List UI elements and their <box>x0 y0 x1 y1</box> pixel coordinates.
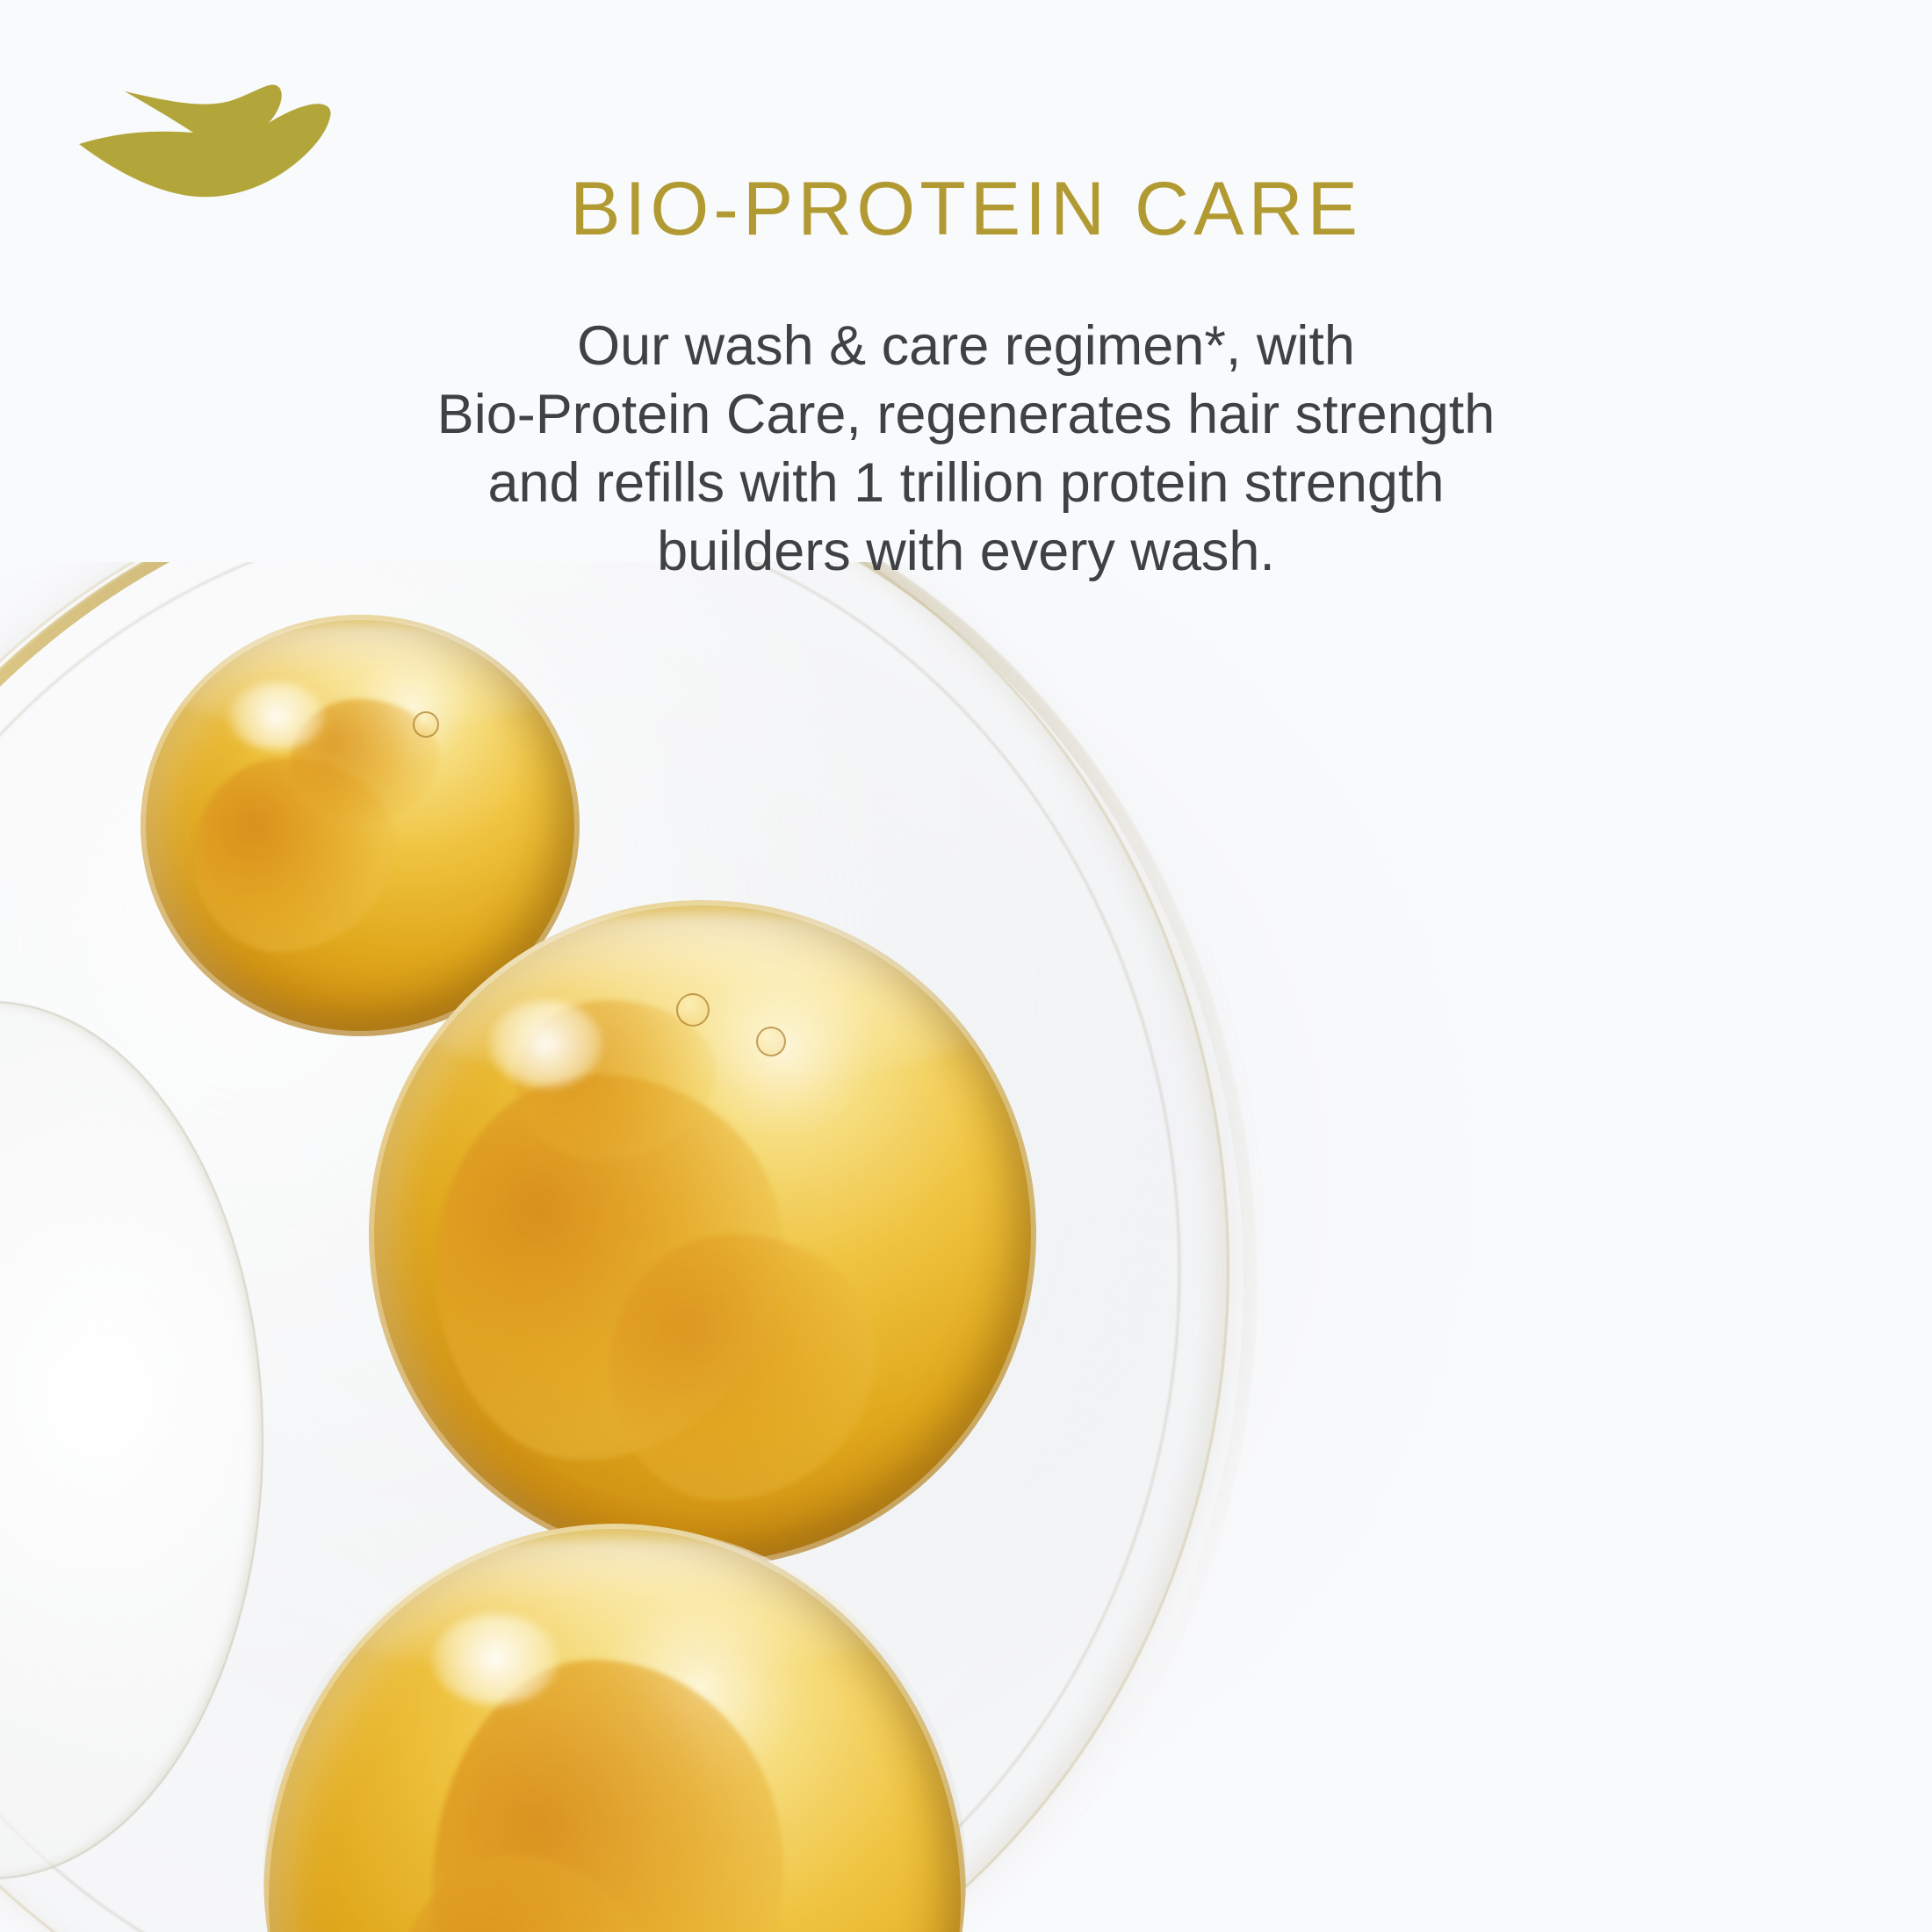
product-photo <box>0 562 1932 1932</box>
serum-sphere-main-glass <box>369 900 1036 1568</box>
body-copy-line-3: and refills with 1 trillion protein stre… <box>263 449 1669 517</box>
body-copy-line-2: Bio-Protein Care, regenerates hair stren… <box>263 380 1669 449</box>
page-title: BIO-PROTEIN CARE <box>0 171 1932 247</box>
serum-sphere-bottom <box>263 1524 966 1932</box>
bio-protein-care-ad: BIO-PROTEIN CARE Our wash & care regimen… <box>0 0 1932 1932</box>
body-copy-line-1: Our wash & care regimen*, with <box>263 312 1669 380</box>
body-copy-line-4: builders with every wash. <box>263 517 1669 586</box>
body-copy: Our wash & care regimen*, with Bio-Prote… <box>263 312 1669 586</box>
serum-sphere-main <box>369 900 1036 1568</box>
